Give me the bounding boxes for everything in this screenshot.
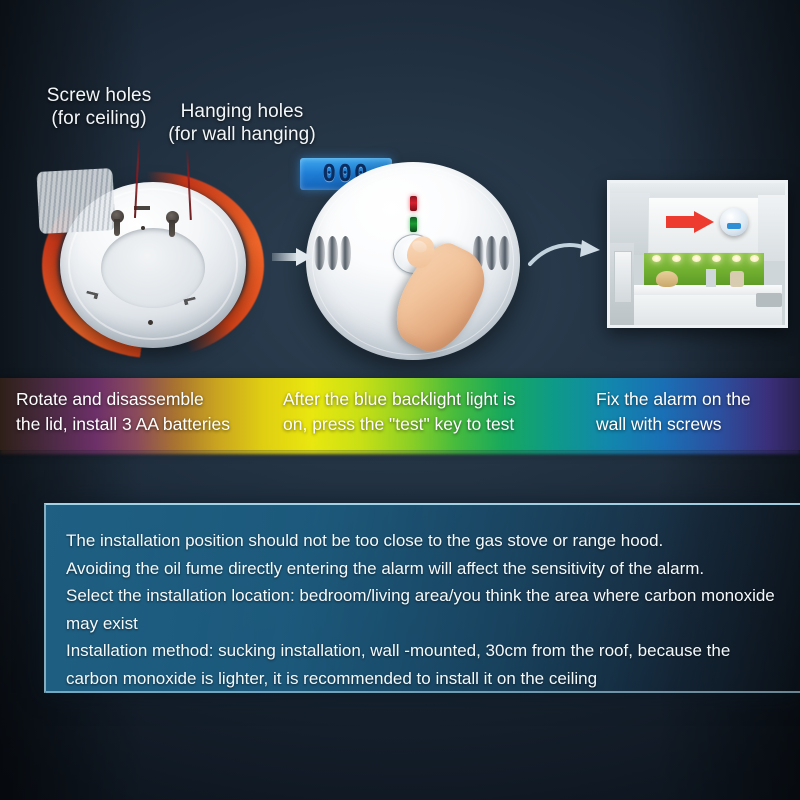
step-caption-3-line2: wall with screws xyxy=(596,412,786,437)
callout-hanging-holes: Hanging holes (for wall hanging) xyxy=(152,100,332,146)
speaker-vent-left-icon xyxy=(314,236,360,270)
steps-illustration-row: 000 xyxy=(0,150,800,380)
led-green-indicator-icon xyxy=(410,217,417,232)
battery-label xyxy=(36,168,115,234)
photo-utensil xyxy=(706,269,716,287)
step-caption-1-line2: the lid, install 3 AA batteries xyxy=(16,412,281,437)
step-caption-1: Rotate and disassemble the lid, install … xyxy=(16,387,281,437)
photo-stove xyxy=(756,293,782,307)
detector-back-plate-illustration xyxy=(38,170,268,360)
step-caption-2-line2: on, press the "test" key to test xyxy=(283,412,553,437)
callout-hanging-holes-line1: Hanging holes xyxy=(152,100,332,123)
installation-note-4: Installation method: sucking installatio… xyxy=(66,637,782,692)
installation-note-3: Select the installation location: bedroo… xyxy=(66,582,782,637)
screw-hole-bottom xyxy=(148,320,153,325)
flow-arrow-icon-2 xyxy=(528,238,604,268)
callout-hanging-holes-line2: (for wall hanging) xyxy=(152,123,332,146)
flow-arrow-icon-1 xyxy=(272,248,312,266)
kitchen-installation-photo xyxy=(607,180,788,328)
step-caption-1-line1: Rotate and disassemble xyxy=(16,387,281,412)
installation-note-2: Avoiding the oil fume directly entering … xyxy=(66,555,782,583)
screw-hole-center xyxy=(141,226,145,230)
step-caption-3: Fix the alarm on the wall with screws xyxy=(596,387,786,437)
step-caption-2: After the blue backlight light is on, pr… xyxy=(283,387,553,437)
step-caption-band: Rotate and disassemble the lid, install … xyxy=(0,378,800,450)
installation-notes-panel: The installation position should not be … xyxy=(44,503,800,693)
infographic-page: Screw holes (for ceiling) Hanging holes … xyxy=(0,0,800,800)
led-red-indicator-icon xyxy=(410,196,417,211)
step-caption-3-line1: Fix the alarm on the xyxy=(596,387,786,412)
keyhole-slot-right xyxy=(169,211,175,237)
step-caption-2-line1: After the blue backlight light is xyxy=(283,387,553,412)
installation-note-1: The installation position should not be … xyxy=(66,527,782,555)
photo-mounted-alarm xyxy=(720,208,748,236)
photo-pointer-arrow-icon xyxy=(666,211,714,233)
photo-container xyxy=(730,271,744,287)
photo-bowl xyxy=(656,271,678,287)
battery-compartment xyxy=(101,228,205,308)
detector-front-face-illustration: 000 xyxy=(300,158,530,370)
keyhole-slot-left xyxy=(114,210,120,236)
